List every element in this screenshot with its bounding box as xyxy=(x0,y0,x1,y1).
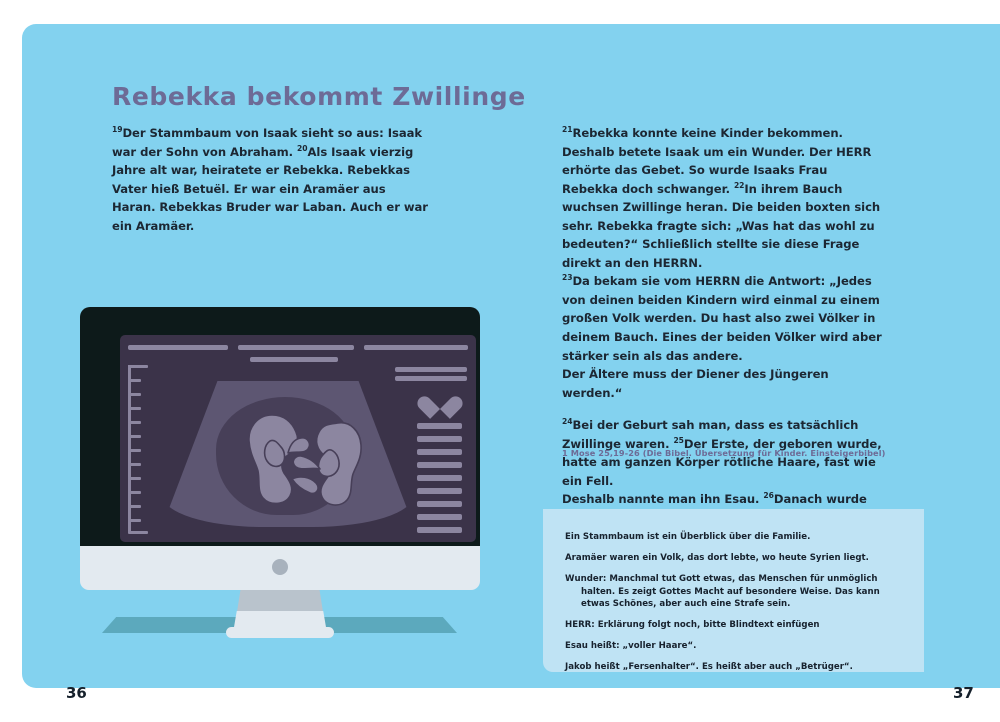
screen-ui-bar xyxy=(417,462,462,468)
monitor-chin xyxy=(80,546,480,590)
verse-number: 22 xyxy=(734,181,744,190)
monitor-bezel xyxy=(80,307,480,552)
monitor-stand-neck-upper xyxy=(237,590,323,612)
verse-number: 25 xyxy=(673,436,683,445)
page-number-right: 37 xyxy=(953,684,974,702)
verse-number: 23 xyxy=(562,274,572,283)
screen-ui-bar xyxy=(417,436,462,442)
heart-icon xyxy=(426,387,454,413)
book-page-spread: Rebekka bekommt Zwillinge 19Der Stammbau… xyxy=(22,24,1000,688)
paragraph: 19Der Stammbaum von Isaak sieht so aus: … xyxy=(112,124,432,235)
glossary-box: Ein Stammbaum ist ein Überblick über die… xyxy=(543,509,924,672)
glossary-entry: Aramäer waren ein Volk, das dort lebte, … xyxy=(565,552,904,564)
verse-number: 21 xyxy=(562,125,572,134)
glossary-entry: Esau heißt: „voller Haare“. xyxy=(565,640,904,652)
screen-ui-bar xyxy=(417,501,462,507)
monitor-stand-foot xyxy=(226,627,334,638)
ultrasound-monitor-illustration xyxy=(62,294,512,664)
verse-number: 26 xyxy=(763,492,773,501)
screen-ui-bar xyxy=(417,449,462,455)
verse-number: 20 xyxy=(297,144,307,153)
page-number-left: 36 xyxy=(66,684,87,702)
source-citation: 1 Mose 25,19-26 (Die Bibel. Übersetzung … xyxy=(562,448,902,458)
glossary-entry: HERR: Erklärung folgt noch, bitte Blindt… xyxy=(565,619,904,631)
screen-ui-bar xyxy=(417,488,462,494)
verse-number: 24 xyxy=(562,417,572,426)
screen-ui-bar xyxy=(417,475,462,481)
screen-ui-bar xyxy=(417,423,462,429)
screen-ui-bar xyxy=(417,527,462,533)
glossary-entry: Jakob heißt „Fersenhalter“. Es heißt abe… xyxy=(565,661,904,673)
glossary-entry: Wunder: Manchmal tut Gott etwas, das Men… xyxy=(565,573,904,610)
screen-ui-bar xyxy=(417,514,462,520)
paragraph: 21Rebekka konnte keine Kinder bekommen. … xyxy=(562,124,887,402)
verse-number: 19 xyxy=(112,125,122,134)
body-text-column-left: 19Der Stammbaum von Isaak sieht so aus: … xyxy=(112,124,432,235)
monitor-power-dot xyxy=(272,559,288,575)
page-title: Rebekka bekommt Zwillinge xyxy=(112,82,526,111)
monitor-screen xyxy=(120,335,476,542)
glossary-entry: Ein Stammbaum ist ein Überblick über die… xyxy=(565,531,904,543)
